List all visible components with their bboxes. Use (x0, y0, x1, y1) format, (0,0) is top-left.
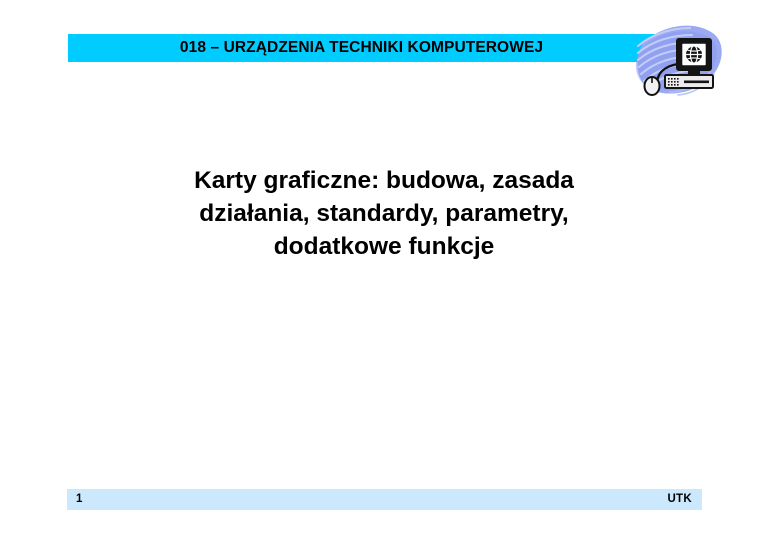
slide-main-title: Karty graficzne: budowa, zasada działani… (84, 164, 684, 263)
monitor-shape (677, 39, 711, 74)
slide-canvas: 018 – URZĄDZENIA TECHNIKI KOMPUTEROWEJ (0, 0, 768, 543)
slide-header-bar: 018 – URZĄDZENIA TECHNIKI KOMPUTEROWEJ (68, 34, 655, 62)
title-line-2: działania, standardy, parametry, (84, 197, 684, 230)
slide-header-title: 018 – URZĄDZENIA TECHNIKI KOMPUTEROWEJ (180, 40, 543, 56)
globe-icon (685, 46, 702, 63)
slide-footer-bar: 1 UTK (67, 489, 702, 510)
title-line-1: Karty graficzne: budowa, zasada (84, 164, 684, 197)
keyboard-shape (665, 75, 713, 88)
computer-network-logo-icon (634, 22, 726, 102)
footer-label: UTK (667, 494, 702, 506)
slide-number: 1 (67, 494, 82, 506)
title-line-3: dodatkowe funkcje (84, 230, 684, 263)
mouse-shape (645, 77, 660, 95)
